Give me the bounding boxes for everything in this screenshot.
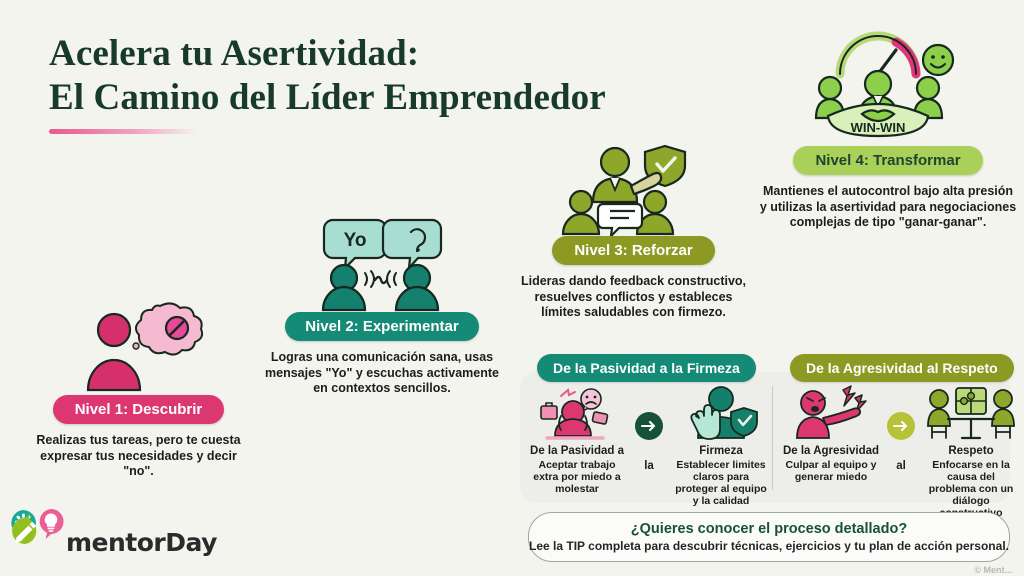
stressed-person-icon-wrap [528, 386, 626, 442]
cta-subtitle: Lee la TIP completa para descubrir técni… [529, 539, 1009, 554]
bubble-label-yo: Yo [344, 230, 367, 251]
arrow-right-icon [887, 412, 915, 440]
panel-right-to-subtitle: Enfocarse en la causa del problema con u… [922, 459, 1020, 519]
level-4-illustration: WIN-WIN [758, 22, 1018, 146]
stressed-person-icon [533, 386, 621, 442]
winwin-label: WIN-WIN [851, 120, 906, 135]
cta-box[interactable]: ¿Quieres conocer el proceso detallado? L… [528, 512, 1010, 562]
level-1-description: Realizas tus tareas, pero te cuesta expr… [26, 433, 251, 480]
level-1-illustration [26, 300, 251, 395]
panel-left-connector: la [631, 386, 667, 472]
watermark: © Ment... [974, 565, 1012, 575]
panel-left-from-subtitle: Aceptar trabajo extra por miedo a molest… [528, 459, 626, 495]
level-card-1: Nivel 1: Descubrir Realizas tus tareas, … [26, 300, 251, 480]
level-4-badge[interactable]: Nivel 4: Transformar [793, 146, 982, 175]
stop-hand-shield-icon-wrap [672, 386, 770, 442]
panel-left-from-title: De la Pasividad a [528, 445, 626, 458]
logo-bubbles [10, 508, 66, 564]
panel-right-to-title: Respeto [922, 445, 1020, 458]
panel-header-agresividad-respeto: De la Agresividad al Respeto [790, 354, 1014, 382]
two-people-table-puzzle-icon-wrap [922, 386, 1020, 442]
panel-left-from: De la Pasividad a Aceptar trabajo extra … [528, 386, 626, 495]
two-people-table-puzzle-icon [924, 386, 1018, 442]
stop-hand-shield-icon [678, 386, 764, 442]
level-2-illustration: Yo [264, 216, 500, 312]
page-title: Acelera tu Asertividad: El Camino del Lí… [49, 32, 606, 134]
logo-wordmark: mentorDay [66, 528, 217, 557]
panel-right-to: Respeto Enfocarse en la causa del proble… [922, 386, 1020, 519]
level-1-badge[interactable]: Nivel 1: Descubrir [53, 395, 225, 424]
panel-left-to-title: Firmeza [672, 445, 770, 458]
angry-person-pointing-icon [787, 386, 875, 442]
panel-right-content: De la Agresividad Culpar al equipo y gen… [782, 386, 1020, 519]
level-card-3: Nivel 3: Reforzar Lideras dando feedback… [516, 140, 751, 321]
panel-header-pasividad-firmeza: De la Pasividad a la Firmeza [537, 354, 756, 382]
panel-left-to: Firmeza Establecer limites claros para p… [672, 386, 770, 507]
level-2-description: Logras una comunicación sana, usas mensa… [264, 350, 500, 397]
mentorday-logo[interactable]: mentorDay [10, 508, 190, 566]
level-4-description: Mantienes el autocontrol bajo alta presi… [758, 184, 1018, 231]
two-people-speech-bubbles-icon: Yo [307, 216, 457, 312]
level-card-4: WIN-WIN Nivel 4: Transformar Mantienes e… [758, 22, 1018, 231]
panel-left-to-subtitle: Establecer limites claros para proteger … [672, 459, 770, 507]
panel-left-content: De la Pasividad a Aceptar trabajo extra … [528, 386, 770, 507]
negotiation-gauge-winwin-icon: WIN-WIN [804, 22, 972, 146]
title-line-1: Acelera tu Asertividad: [49, 32, 606, 76]
panel-left-connector-label: la [631, 460, 667, 472]
arrow-right-icon [635, 412, 663, 440]
cta-title: ¿Quieres conocer el proceso detallado? [631, 521, 907, 538]
infographic-canvas: Acelera tu Asertividad: El Camino del Lí… [0, 0, 1024, 576]
person-with-no-thought-bubble-icon [64, 300, 214, 395]
panel-right-from-subtitle: Culpar al equipo y generar miedo [782, 459, 880, 483]
level-3-description: Lideras dando feedback constructivo, res… [516, 274, 751, 321]
level-2-badge[interactable]: Nivel 2: Experimentar [285, 312, 478, 341]
title-underline-accent [49, 129, 197, 134]
title-line-2: El Camino del Líder Emprendedor [49, 76, 606, 120]
panel-right-from-title: De la Agresividad [782, 445, 880, 458]
panel-right-connector: al [883, 386, 919, 472]
level-3-badge[interactable]: Nivel 3: Reforzar [552, 236, 714, 265]
leader-team-feedback-shield-icon [559, 140, 709, 236]
panel-right-from: De la Agresividad Culpar al equipo y gen… [782, 386, 880, 483]
level-3-illustration [516, 140, 751, 236]
level-card-2: Yo Nivel 2: Experimentar Logras una comu… [264, 216, 500, 397]
panel-right-connector-label: al [883, 460, 919, 472]
angry-person-pointing-icon-wrap [782, 386, 880, 442]
panel-divider [772, 386, 773, 490]
